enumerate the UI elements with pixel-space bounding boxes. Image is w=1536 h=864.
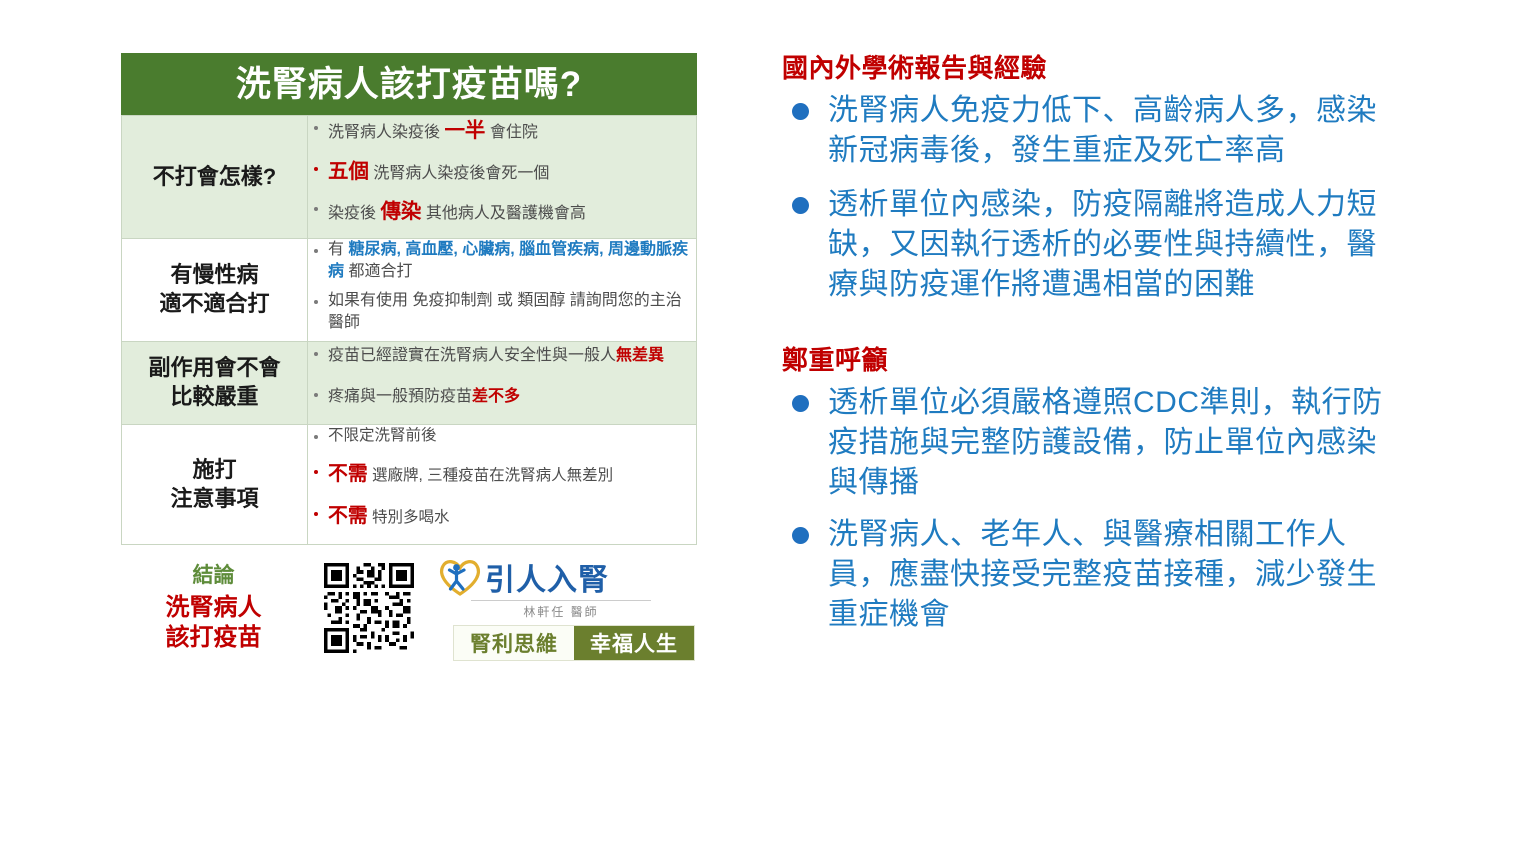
answer-list: 不限定洗腎前後不需 選廠牌, 三種疫苗在洗腎病人無差別不需 特別多喝水: [308, 425, 696, 531]
highlight-text: 傳染: [380, 200, 421, 223]
answer-list: 有 糖尿病, 高血壓, 心臟病, 腦血管疾病, 周邊動脈疾病 都適合打如果有使用…: [308, 239, 696, 335]
list-item: 洗腎病人免疫力低下、高齡病人多，感染新冠病毒後，發生重症及死亡率高: [782, 91, 1402, 171]
section-heading: 國內外學術報告與經驗: [782, 48, 1402, 85]
table-row: 有慢性病適不適合打 有 糖尿病, 高血壓, 心臟病, 腦血管疾病, 周邊動脈疾病…: [122, 239, 697, 342]
qr-code-wrapper: [306, 563, 431, 653]
list-item: 如果有使用 免疫抑制劑 或 類固醇 請詢問您的主治醫師: [308, 290, 696, 335]
highlight-text: 一半: [444, 119, 485, 142]
table-row: 不打會怎樣? 洗腎病人染疫後 一半 會住院五個 洗腎病人染疫後會死一個染疫後 傳…: [122, 116, 697, 239]
question-cell: 施打注意事項: [122, 425, 308, 545]
list-item: 透析單位必須嚴格遵照CDC準則，執行防疫措施與完整防護設備，防止單位內感染與傳播: [782, 383, 1402, 503]
list-item: 不需 特別多喝水: [308, 502, 696, 531]
conclusion-label: 結論: [121, 563, 306, 589]
conclusion-line-2: 該打疫苗: [121, 623, 306, 653]
brand-top-row: 引人入腎: [437, 555, 697, 599]
section-urgent-appeal: 鄭重呼籲 透析單位必須嚴格遵照CDC準則，執行防疫措施與完整防護設備，防止單位內…: [782, 340, 1402, 634]
highlight-text: 不需: [328, 463, 368, 485]
body-text: 會住院: [485, 124, 537, 141]
highlight-text: 不需: [328, 505, 368, 527]
section1-bullet-list: 洗腎病人免疫力低下、高齡病人多，感染新冠病毒後，發生重症及死亡率高透析單位內感染…: [782, 91, 1402, 304]
answer-cell: 疫苗已經證實在洗腎病人安全性與一般人無差異疼痛與一般預防疫苗差不多: [308, 341, 697, 424]
answer-cell: 洗腎病人染疫後 一半 會住院五個 洗腎病人染疫後會死一個染疫後 傳染 其他病人及…: [308, 116, 697, 239]
list-item: 有 糖尿病, 高血壓, 心臟病, 腦血管疾病, 周邊動脈疾病 都適合打: [308, 239, 696, 284]
table-row: 施打注意事項 不限定洗腎前後不需 選廠牌, 三種疫苗在洗腎病人無差別不需 特別多…: [122, 425, 697, 545]
body-text: 其他病人及醫護機會高: [421, 205, 585, 222]
list-item: 不限定洗腎前後: [308, 425, 696, 447]
body-text: 選廠牌, 三種疫苗在洗腎病人無差別: [368, 467, 613, 484]
infographic-footer: 結論 洗腎病人 該打疫苗: [121, 545, 697, 661]
kidney-heart-logo-icon: [437, 556, 483, 598]
section2-bullet-list: 透析單位必須嚴格遵照CDC準則，執行防疫措施與完整防護設備，防止單位內感染與傳播…: [782, 383, 1402, 634]
body-text: 疫苗已經證實在洗腎病人安全性與一般人: [328, 347, 616, 364]
body-text: 有: [328, 241, 348, 258]
qr-code-icon[interactable]: [324, 563, 414, 653]
list-item: 透析單位內感染，防疫隔離將造成人力短缺，又因執行透析的必要性與持續性，醫療與防疫…: [782, 185, 1402, 305]
highlight-text: 無差異: [616, 347, 664, 364]
summary-panel: 國內外學術報告與經驗 洗腎病人免疫力低下、高齡病人多，感染新冠病毒後，發生重症及…: [782, 48, 1402, 647]
highlight-text: 差不多: [472, 388, 520, 405]
highlight-text: 五個: [328, 160, 369, 183]
body-text: 都適合打: [344, 263, 412, 280]
conclusion-line-1: 洗腎病人: [121, 593, 306, 623]
answer-cell: 不限定洗腎前後不需 選廠牌, 三種疫苗在洗腎病人無差別不需 特別多喝水: [308, 425, 697, 545]
brand-block: 引人入腎 林軒任 醫師 腎利思維 幸福人生: [431, 555, 697, 661]
tagline-left: 腎利思維: [454, 626, 574, 660]
table-row: 副作用會不會比較嚴重 疫苗已經證實在洗腎病人安全性與一般人無差異疼痛與一般預防疫…: [122, 341, 697, 424]
answer-cell: 有 糖尿病, 高血壓, 心臟病, 腦血管疾病, 周邊動脈疾病 都適合打如果有使用…: [308, 239, 697, 342]
list-item: 疼痛與一般預防疫苗差不多: [308, 383, 696, 410]
body-text: 疼痛與一般預防疫苗: [328, 388, 472, 405]
vaccine-infographic-card: 洗腎病人該打疫苗嗎? 不打會怎樣? 洗腎病人染疫後 一半 會住院五個 洗腎病人染…: [121, 53, 697, 661]
infographic-title: 洗腎病人該打疫苗嗎?: [236, 67, 582, 102]
body-text: 洗腎病人染疫後會死一個: [369, 165, 549, 182]
qa-table: 不打會怎樣? 洗腎病人染疫後 一半 會住院五個 洗腎病人染疫後會死一個染疫後 傳…: [121, 115, 697, 545]
list-item: 染疫後 傳染 其他病人及醫護機會高: [308, 197, 696, 227]
brand-name: 引人入腎: [485, 555, 609, 599]
infographic-header: 洗腎病人該打疫苗嗎?: [121, 53, 697, 115]
list-item: 疫苗已經證實在洗腎病人安全性與一般人無差異: [308, 342, 696, 369]
question-cell: 有慢性病適不適合打: [122, 239, 308, 342]
body-text: 洗腎病人染疫後: [328, 124, 444, 141]
body-text: 如果有使用 免疫抑制劑 或 類固醇 請詢問您的主治醫師: [328, 292, 682, 331]
body-text: 染疫後: [328, 205, 380, 222]
list-item: 不需 選廠牌, 三種疫苗在洗腎病人無差別: [308, 460, 696, 489]
list-item: 五個 洗腎病人染疫後會死一個: [308, 157, 696, 187]
list-item: 洗腎病人、老年人、與醫療相關工作人員，應盡快接受完整疫苗接種，減少發生重症機會: [782, 515, 1402, 635]
answer-list: 疫苗已經證實在洗腎病人安全性與一般人無差異疼痛與一般預防疫苗差不多: [308, 342, 696, 410]
conclusion-block: 結論 洗腎病人 該打疫苗: [121, 563, 306, 653]
section-academic-reports: 國內外學術報告與經驗 洗腎病人免疫力低下、高齡病人多，感染新冠病毒後，發生重症及…: [782, 48, 1402, 304]
brand-tagline-banner: 腎利思維 幸福人生: [453, 625, 695, 661]
qa-table-body: 不打會怎樣? 洗腎病人染疫後 一半 會住院五個 洗腎病人染疫後會死一個染疫後 傳…: [122, 116, 697, 545]
question-cell: 副作用會不會比較嚴重: [122, 341, 308, 424]
list-item: 洗腎病人染疫後 一半 會住院: [308, 116, 696, 146]
answer-list: 洗腎病人染疫後 一半 會住院五個 洗腎病人染疫後會死一個染疫後 傳染 其他病人及…: [308, 116, 696, 227]
question-cell: 不打會怎樣?: [122, 116, 308, 239]
tagline-right: 幸福人生: [574, 626, 694, 660]
section-heading: 鄭重呼籲: [782, 340, 1402, 377]
body-text: 不限定洗腎前後: [328, 427, 437, 444]
brand-subtitle: 林軒任 醫師: [471, 600, 651, 620]
body-text: 特別多喝水: [368, 509, 450, 526]
